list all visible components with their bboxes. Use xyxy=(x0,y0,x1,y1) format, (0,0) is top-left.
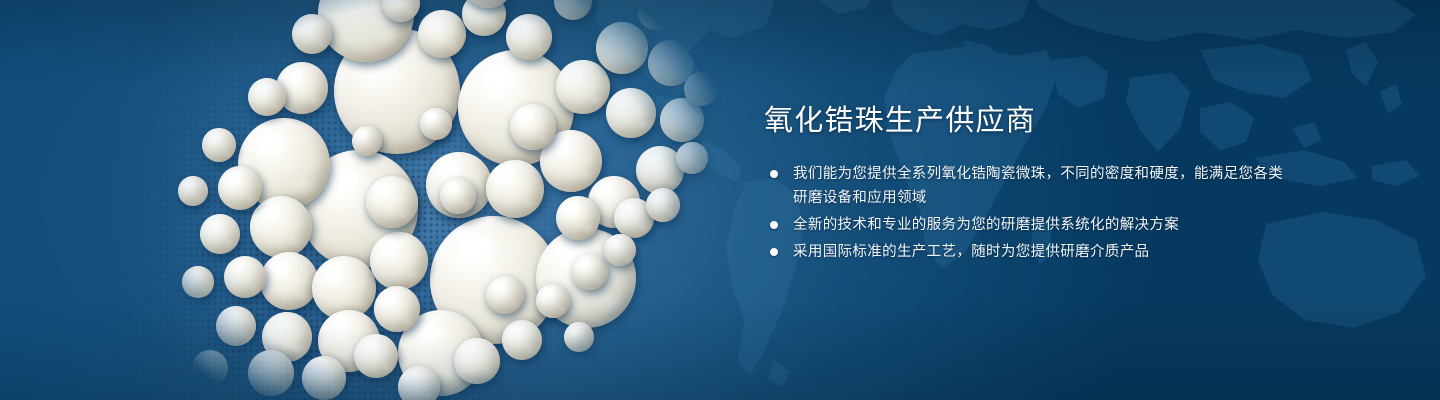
bullet-text: 全新的技术和专业的服务为您的研磨提供系统化的解决方案 xyxy=(793,217,1179,233)
bullet-dot-icon xyxy=(770,221,778,229)
bullet-text: 采用国际标准的生产工艺，随时为您提供研磨介质产品 xyxy=(793,244,1149,260)
hero-banner: 氧化锆珠生产供应商 我们能为您提供全系列氧化锆陶瓷微珠，不同的密度和硬度，能满足… xyxy=(0,0,1440,400)
bullet-dot-icon xyxy=(770,248,778,256)
banner-bullet-list: 我们能为您提供全系列氧化锆陶瓷微珠，不同的密度和硬度，能满足您各类研磨设备和应用… xyxy=(764,162,1284,264)
bullet-item: 全新的技术和专业的服务为您的研磨提供系统化的解决方案 xyxy=(764,213,1284,237)
banner-headline: 氧化锆珠生产供应商 xyxy=(764,104,1284,138)
bullet-item: 采用国际标准的生产工艺，随时为您提供研磨介质产品 xyxy=(764,240,1284,264)
bullet-item: 我们能为您提供全系列氧化锆陶瓷微珠，不同的密度和硬度，能满足您各类研磨设备和应用… xyxy=(764,162,1284,210)
bullet-dot-icon xyxy=(770,170,778,178)
bullet-text: 我们能为您提供全系列氧化锆陶瓷微珠，不同的密度和硬度，能满足您各类研磨设备和应用… xyxy=(793,166,1283,206)
banner-copy-block: 氧化锆珠生产供应商 我们能为您提供全系列氧化锆陶瓷微珠，不同的密度和硬度，能满足… xyxy=(764,104,1284,267)
zirconia-beads-photo xyxy=(0,0,760,400)
